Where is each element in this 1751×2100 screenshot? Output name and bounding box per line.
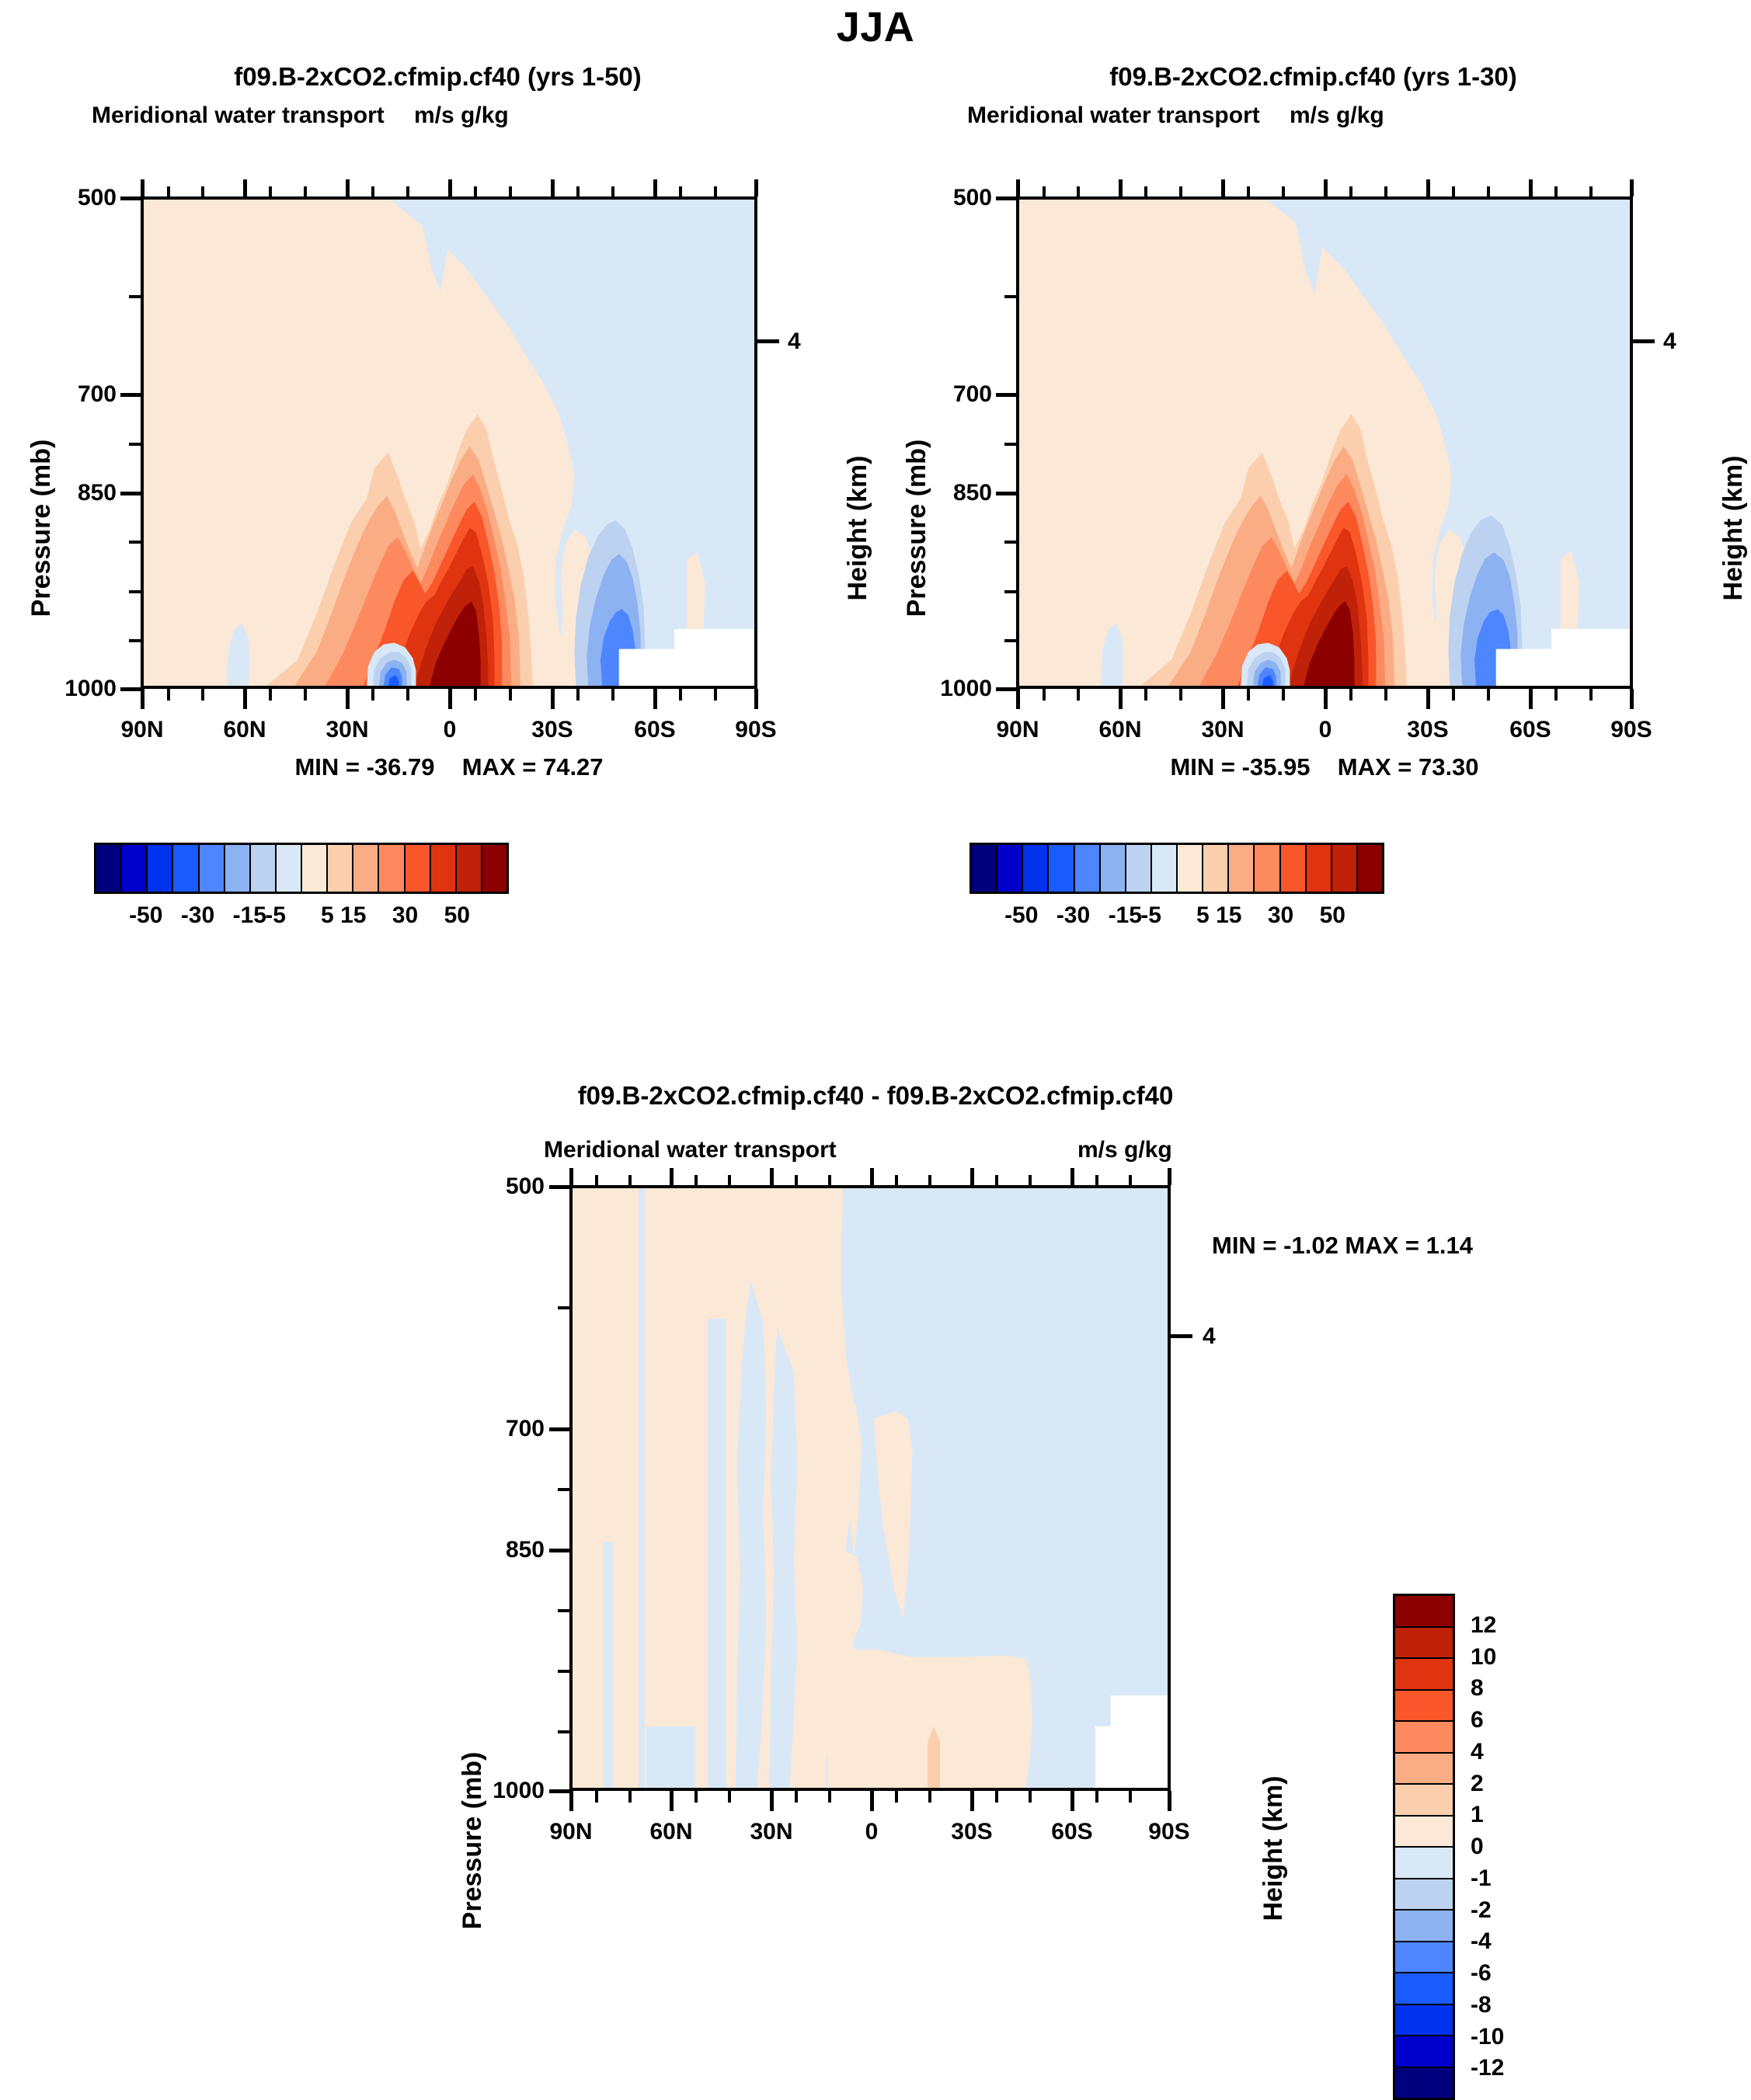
- colorbar-tick-label: 50: [444, 902, 470, 929]
- colorbar-cell[interactable]: [1023, 845, 1049, 892]
- x-tick-label: 30S: [531, 717, 573, 743]
- min-label-top-right: MIN = -35.95: [1170, 753, 1310, 781]
- colorbar-bottom-diff[interactable]: [1393, 1594, 1455, 2100]
- x-tick-label: 30N: [1201, 717, 1244, 743]
- x-tick-label: 90S: [1148, 1819, 1189, 1845]
- colorbar-tick-label: 10: [1471, 1644, 1496, 1671]
- colorbar-tick-label: 6: [1471, 1707, 1484, 1733]
- right-axis-tick-label: 4: [788, 329, 801, 355]
- panel-variable-top-left: Meridional water transport: [92, 103, 385, 129]
- panel-units-top-left: m/s g/kg: [414, 103, 509, 129]
- colorbar-tick-label: 30: [392, 902, 418, 929]
- colorbar-tick-label: -4: [1471, 1928, 1492, 1955]
- right-axis-tick: [1633, 339, 1655, 343]
- colorbar-tick-label: 4: [1471, 1739, 1484, 1765]
- x-tick-label: 60S: [1509, 717, 1551, 743]
- contour-field-top-right: [1019, 200, 1630, 686]
- colorbar-cell[interactable]: [1395, 1596, 1453, 1628]
- colorbar-tick-label: 1: [1471, 1802, 1484, 1828]
- x-tick-label: 90N: [120, 717, 163, 743]
- y-tick-label: 700: [43, 381, 117, 408]
- colorbar-tick-label: 30: [1268, 902, 1293, 929]
- colorbar-tick-label: -6: [1471, 1960, 1492, 1987]
- panel-bottom-diff: f09.B-2xCO2.cfmip.cf40 - f09.B-2xCO2.cfm…: [0, 1064, 1751, 1877]
- panel-units-bottom-diff: m/s g/kg: [1077, 1137, 1172, 1163]
- y-tick-label: 1000: [907, 676, 992, 702]
- panel-title-bottom-diff: f09.B-2xCO2.cfmip.cf40 - f09.B-2xCO2.cfm…: [0, 1081, 1751, 1111]
- plot-area-bottom-diff: [569, 1185, 1171, 1791]
- colorbar-tick-label: -5: [1140, 902, 1161, 929]
- panel-variable-bottom-diff: Meridional water transport: [544, 1137, 837, 1163]
- colorbar-cell[interactable]: [1101, 845, 1126, 892]
- colorbar-tick-label: -10: [1471, 2024, 1504, 2050]
- colorbar-cell[interactable]: [1395, 1911, 1453, 1942]
- colorbar-tick-label: -30: [1057, 902, 1090, 929]
- x-tick-label: 90N: [549, 1819, 592, 1845]
- y-tick-label: 850: [918, 480, 992, 506]
- colorbar-cell[interactable]: [379, 845, 405, 892]
- colorbar-cell[interactable]: [972, 845, 997, 892]
- colorbar-cell[interactable]: [96, 845, 122, 892]
- colorbar-cell[interactable]: [1358, 845, 1382, 892]
- minmax-top-right: MIN = -35.95 MAX = 73.30: [1016, 753, 1633, 781]
- right-axis-label-top-right: Height (km): [1718, 456, 1749, 601]
- colorbar-cell[interactable]: [1395, 1848, 1453, 1879]
- figure-season-title: JJA: [0, 3, 1751, 51]
- y-tick-label: 500: [43, 185, 117, 211]
- colorbar-cell[interactable]: [328, 845, 353, 892]
- colorbar-cell[interactable]: [1395, 1879, 1453, 1911]
- colorbar-cell[interactable]: [173, 845, 199, 892]
- colorbar-cell[interactable]: [1395, 1785, 1453, 1817]
- colorbar-cell[interactable]: [431, 845, 457, 892]
- x-tick-label: 0: [1319, 717, 1332, 743]
- colorbar-cell[interactable]: [1395, 1659, 1453, 1691]
- y-tick-label: 850: [43, 480, 117, 506]
- right-axis-label-bottom-diff: Height (km): [1258, 1776, 1289, 1921]
- colorbar-cell[interactable]: [200, 845, 225, 892]
- colorbar-tick-label: -15: [233, 902, 266, 929]
- max-label-top-left: MAX = 74.27: [462, 753, 604, 781]
- colorbar-tick-label: 0: [1471, 1834, 1484, 1860]
- colorbar-tick-label: 2: [1471, 1771, 1484, 1797]
- colorbar-cell[interactable]: [1152, 845, 1178, 892]
- y-tick-label: 1000: [458, 1778, 545, 1804]
- y-tick-label: 500: [918, 185, 992, 211]
- colorbar-tick-label: 12: [1471, 1612, 1496, 1639]
- colorbar-cell[interactable]: [482, 845, 507, 892]
- colorbar-cell[interactable]: [1395, 1628, 1453, 1660]
- colorbar-top-left[interactable]: [94, 843, 509, 894]
- right-axis-tick-label: 4: [1203, 1323, 1216, 1350]
- panel-top-left: f09.B-2xCO2.cfmip.cf40 (yrs 1-50) Meridi…: [0, 62, 875, 1064]
- right-axis-tick: [1171, 1334, 1192, 1338]
- minmax-bottom-diff: MIN = -1.02 MAX = 1.14: [1212, 1232, 1694, 1260]
- colorbar-tick-label: -5: [265, 902, 286, 929]
- min-label-top-left: MIN = -36.79: [294, 753, 434, 781]
- colorbar-cell[interactable]: [1255, 845, 1280, 892]
- y-axis-label-top-right: Pressure (mb): [902, 440, 932, 617]
- colorbar-tick-label: -50: [129, 902, 162, 929]
- colorbar-cell[interactable]: [1307, 845, 1332, 892]
- colorbar-tick-label: 5: [1196, 902, 1210, 929]
- colorbar-cell[interactable]: [1395, 1942, 1453, 1974]
- colorbar-cell[interactable]: [1332, 845, 1358, 892]
- colorbar-cell[interactable]: [1281, 845, 1307, 892]
- colorbar-tick-label: -30: [181, 902, 214, 929]
- colorbar-cell[interactable]: [302, 845, 328, 892]
- x-tick-label: 60N: [649, 1819, 692, 1845]
- colorbar-tick-label: -2: [1471, 1897, 1492, 1924]
- contour-field-bottom-diff: [573, 1188, 1168, 1788]
- right-axis-label-top-left: Height (km): [843, 456, 873, 601]
- x-tick-label: 30N: [325, 717, 368, 743]
- colorbar-cell[interactable]: [1178, 845, 1203, 892]
- colorbar-cell[interactable]: [406, 845, 431, 892]
- colorbar-cell[interactable]: [1395, 1691, 1453, 1723]
- y-tick-label: 1000: [31, 676, 117, 702]
- plot-area-top-left: [141, 196, 757, 689]
- panel-title-top-left: f09.B-2xCO2.cfmip.cf40 (yrs 1-50): [0, 62, 875, 92]
- colorbar-cell[interactable]: [1203, 845, 1229, 892]
- colorbar-cell[interactable]: [1395, 2036, 1453, 2068]
- colorbar-labels-top-right: -50-30-15-55153050: [969, 902, 1384, 934]
- colorbar-cell[interactable]: [1049, 845, 1074, 892]
- colorbar-tick-label: 15: [340, 902, 366, 929]
- y-tick-label: 700: [918, 381, 992, 408]
- colorbar-cell[interactable]: [1395, 1817, 1453, 1848]
- colorbar-tick-label: 50: [1320, 902, 1345, 929]
- right-axis-tick-label: 4: [1663, 329, 1676, 355]
- y-tick-label: 850: [470, 1537, 545, 1563]
- colorbar-cell[interactable]: [1395, 1754, 1453, 1785]
- colorbar-cell[interactable]: [277, 845, 302, 892]
- panel-variable-top-right: Meridional water transport: [967, 103, 1260, 129]
- x-tick-label: 0: [865, 1819, 879, 1845]
- contour-field-top-left: [144, 200, 754, 686]
- x-tick-label: 60S: [634, 717, 675, 743]
- right-axis-tick: [757, 339, 779, 343]
- colorbar-cell[interactable]: [457, 845, 482, 892]
- colorbar-cell[interactable]: [225, 845, 251, 892]
- colorbar-labels-bottom-diff: 1210864210-1-2-4-6-8-10-12: [1471, 1594, 1564, 2100]
- colorbar-cell[interactable]: [1395, 2005, 1453, 2037]
- x-tick-label: 90N: [996, 717, 1039, 743]
- panel-title-top-right: f09.B-2xCO2.cfmip.cf40 (yrs 1-30): [875, 62, 1751, 92]
- colorbar-cell[interactable]: [1395, 1722, 1453, 1754]
- x-tick-label: 90S: [1610, 717, 1652, 743]
- colorbar-cell[interactable]: [1075, 845, 1101, 892]
- panel-units-top-right: m/s g/kg: [1290, 103, 1384, 129]
- y-tick-label: 500: [470, 1173, 545, 1200]
- panel-top-right: f09.B-2xCO2.cfmip.cf40 (yrs 1-30) Meridi…: [875, 62, 1751, 1064]
- x-tick-label: 30N: [750, 1819, 792, 1845]
- y-axis-label-top-left: Pressure (mb): [26, 440, 57, 617]
- colorbar-cell[interactable]: [122, 845, 148, 892]
- colorbar-cell[interactable]: [1229, 845, 1255, 892]
- colorbar-cell[interactable]: [251, 845, 277, 892]
- x-tick-label: 0: [444, 717, 457, 743]
- colorbar-tick-label: -8: [1471, 1992, 1492, 2018]
- colorbar-cell[interactable]: [1395, 2068, 1453, 2098]
- colorbar-cell[interactable]: [997, 845, 1023, 892]
- x-tick-label: 60N: [223, 717, 266, 743]
- minmax-top-left: MIN = -36.79 MAX = 74.27: [141, 753, 757, 781]
- colorbar-cell[interactable]: [1395, 1973, 1453, 2005]
- colorbar-cell[interactable]: [353, 845, 379, 892]
- colorbar-tick-label: -50: [1004, 902, 1038, 929]
- max-label-top-right: MAX = 73.30: [1338, 753, 1479, 781]
- colorbar-tick-label: 5: [321, 902, 334, 929]
- x-tick-label: 30S: [951, 1819, 992, 1845]
- colorbar-top-right[interactable]: [969, 843, 1384, 894]
- colorbar-tick-label: -15: [1109, 902, 1142, 929]
- x-tick-label: 90S: [735, 717, 776, 743]
- colorbar-tick-label: -1: [1471, 1865, 1492, 1892]
- x-tick-label: 60S: [1051, 1819, 1092, 1845]
- x-tick-label: 30S: [1407, 717, 1448, 743]
- colorbar-labels-top-left: -50-30-15-55153050: [94, 902, 509, 934]
- colorbar-tick-label: 15: [1216, 902, 1241, 929]
- colorbar-tick-label: -12: [1471, 2055, 1504, 2081]
- plot-area-top-right: [1016, 196, 1633, 689]
- y-tick-label: 700: [470, 1416, 545, 1442]
- x-tick-label: 60N: [1098, 717, 1141, 743]
- colorbar-cell[interactable]: [148, 845, 173, 892]
- colorbar-tick-label: 8: [1471, 1675, 1484, 1702]
- colorbar-cell[interactable]: [1126, 845, 1152, 892]
